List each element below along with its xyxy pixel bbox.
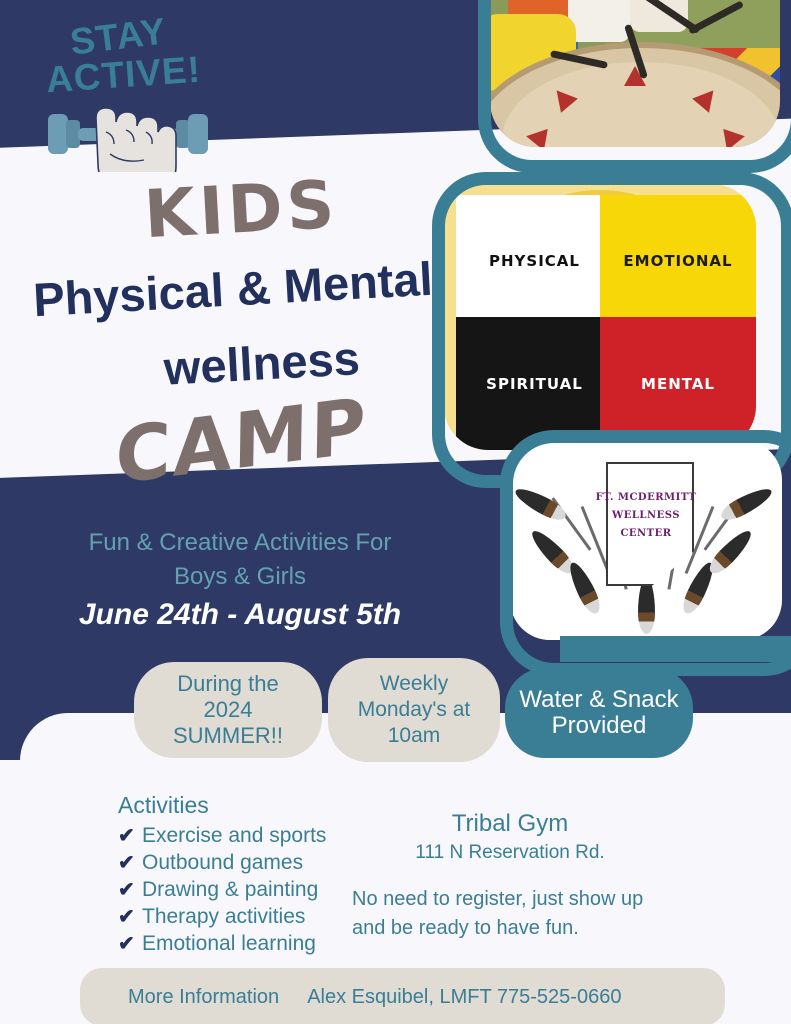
pill3-line2: Provided xyxy=(519,713,678,739)
activity-label: Outbound games xyxy=(142,850,303,875)
pill-water-snack: Water & Snack Provided xyxy=(505,668,693,758)
registration-note-line1: No need to register, just show up xyxy=(352,885,682,914)
pill1-line1: During the xyxy=(173,671,283,697)
teal-accent-bar xyxy=(560,636,791,662)
activity-label: Therapy activities xyxy=(142,904,305,929)
registration-note: No need to register, just show up and be… xyxy=(352,885,682,943)
activities-heading: Activities xyxy=(118,792,209,819)
pill2-line3: 10am xyxy=(358,723,471,749)
footer-contact: Alex Esquibel, LMFT 775-525-0660 xyxy=(307,986,621,1008)
check-icon: ✔ xyxy=(118,823,142,848)
check-icon: ✔ xyxy=(118,931,142,956)
title-kids: KIDS xyxy=(142,166,340,253)
list-item: ✔ Therapy activities xyxy=(118,904,326,929)
pill2-line2: Monday's at xyxy=(358,697,471,723)
check-icon: ✔ xyxy=(118,904,142,929)
list-item: ✔ Emotional learning xyxy=(118,931,326,956)
activity-label: Drawing & painting xyxy=(142,877,318,902)
pill1-line3: SUMMER!! xyxy=(173,723,283,749)
photo-frame-top xyxy=(478,0,791,173)
list-item: ✔ Drawing & painting xyxy=(118,877,326,902)
registration-note-line2: and be ready to have fun. xyxy=(352,914,682,943)
pill1-line2: 2024 xyxy=(173,697,283,723)
venue-address: 111 N Reservation Rd. xyxy=(350,842,670,864)
contact-footer-bar: More Information Alex Esquibel, LMFT 775… xyxy=(80,968,725,1024)
subtitle-line2: Boys & Girls xyxy=(0,560,480,594)
pill3-line1: Water & Snack xyxy=(519,687,678,713)
activities-list: ✔ Exercise and sports ✔ Outbound games ✔… xyxy=(118,823,326,958)
subtitle: Fun & Creative Activities For Boys & Gir… xyxy=(0,526,480,594)
pill2-line1: Weekly xyxy=(358,671,471,697)
pill-schedule: Weekly Monday's at 10am xyxy=(328,658,500,762)
check-icon: ✔ xyxy=(118,877,142,902)
list-item: ✔ Outbound games xyxy=(118,850,326,875)
camp-dates: June 24th - August 5th xyxy=(0,598,480,632)
activity-label: Exercise and sports xyxy=(142,823,326,848)
pill-summer-session: During the 2024 SUMMER!! xyxy=(134,662,322,758)
activity-label: Emotional learning xyxy=(142,931,316,956)
flyer-canvas: STAY ACTIVE! KIDS Physical & Mental well… xyxy=(0,0,791,1024)
check-icon: ✔ xyxy=(118,850,142,875)
footer-label: More Information xyxy=(128,986,279,1008)
venue-name: Tribal Gym xyxy=(350,810,670,838)
title-physical-mental: Physical & Mental xyxy=(32,251,434,328)
list-item: ✔ Exercise and sports xyxy=(118,823,326,848)
subtitle-line1: Fun & Creative Activities For xyxy=(0,526,480,560)
